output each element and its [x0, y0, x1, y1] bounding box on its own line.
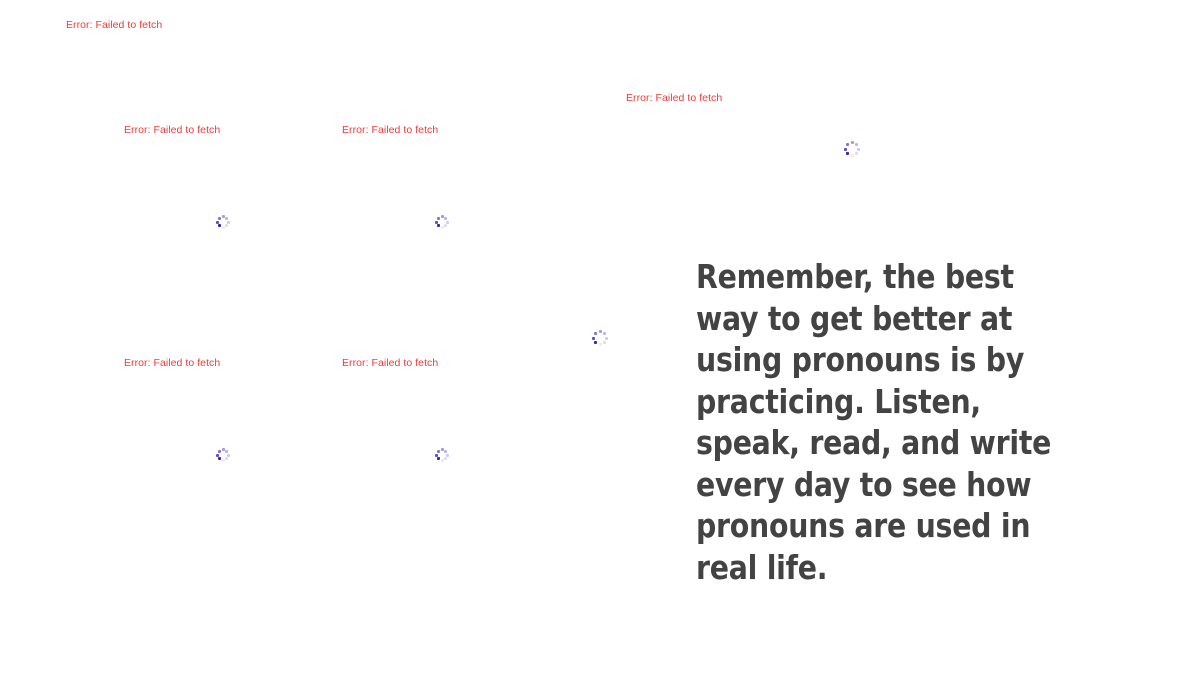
spinner-dot — [446, 454, 449, 457]
spinner-dot — [851, 154, 854, 157]
spinner-dot — [437, 457, 440, 460]
spinner-dot — [603, 341, 606, 344]
spinner-dot — [227, 221, 230, 224]
spinner-dot — [216, 221, 219, 224]
error-message-2: Error: Failed to fetch — [124, 124, 220, 137]
spinner-dot — [857, 148, 860, 151]
loading-spinner-icon — [435, 215, 449, 229]
spinner-dot — [594, 341, 597, 344]
headline-text: Remember, the best way to get better at … — [696, 256, 1068, 588]
error-message-6: Error: Failed to fetch — [342, 357, 438, 370]
spinner-dot — [435, 221, 438, 224]
spinner-dot — [218, 217, 221, 220]
spinner-dot — [441, 215, 444, 218]
spinner-dot — [222, 448, 225, 451]
spinner-dot — [846, 143, 849, 146]
spinner-dot — [855, 143, 858, 146]
loading-spinner-icon — [216, 448, 230, 462]
page-root: Error: Failed to fetchError: Failed to f… — [0, 0, 1200, 675]
spinner-dot — [844, 148, 847, 151]
spinner-dot — [444, 457, 447, 460]
spinner-dot — [594, 332, 597, 335]
spinner-dot — [225, 457, 228, 460]
spinner-dot — [605, 337, 608, 340]
spinner-dot — [227, 454, 230, 457]
loading-spinner-icon — [592, 330, 608, 346]
spinner-dot — [222, 459, 225, 462]
loading-spinner-icon — [435, 448, 449, 462]
spinner-dot — [218, 457, 221, 460]
spinner-dot — [437, 224, 440, 227]
spinner-dot — [437, 450, 440, 453]
spinner-dot — [218, 450, 221, 453]
spinner-dot — [441, 459, 444, 462]
spinner-dot — [435, 454, 438, 457]
loading-spinner-icon — [216, 215, 230, 229]
spinner-dot — [222, 215, 225, 218]
spinner-dot — [603, 332, 606, 335]
spinner-dot — [216, 454, 219, 457]
error-message-3: Error: Failed to fetch — [342, 124, 438, 137]
spinner-dot — [225, 224, 228, 227]
spinner-dot — [855, 152, 858, 155]
error-message-4: Error: Failed to fetch — [626, 92, 722, 105]
spinner-dot — [225, 217, 228, 220]
spinner-dot — [444, 217, 447, 220]
error-message-1: Error: Failed to fetch — [66, 19, 162, 32]
spinner-dot — [851, 141, 854, 144]
spinner-dot — [441, 226, 444, 229]
spinner-dot — [446, 221, 449, 224]
spinner-dot — [222, 226, 225, 229]
spinner-dot — [218, 224, 221, 227]
spinner-dot — [599, 343, 602, 346]
spinner-dot — [846, 152, 849, 155]
spinner-dot — [444, 224, 447, 227]
loading-spinner-icon — [844, 141, 860, 157]
spinner-dot — [592, 337, 595, 340]
spinner-dot — [441, 448, 444, 451]
spinner-dot — [225, 450, 228, 453]
spinner-dot — [599, 330, 602, 333]
spinner-dot — [444, 450, 447, 453]
spinner-dot — [437, 217, 440, 220]
error-message-5: Error: Failed to fetch — [124, 357, 220, 370]
